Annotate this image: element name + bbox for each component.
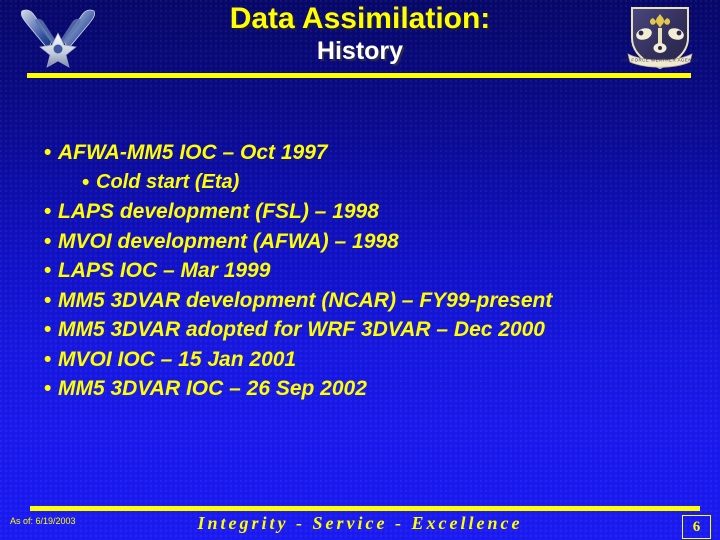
bullet-icon: • <box>44 227 51 257</box>
list-item-label: MM5 3DVAR adopted for WRF 3DVAR – Dec 20… <box>58 318 545 341</box>
bullet-icon: • <box>44 345 51 375</box>
list-item-label: MVOI development (AFWA) – 1998 <box>58 230 399 253</box>
page-number: 6 <box>682 515 711 539</box>
list-item-label: LAPS development (FSL) – 1998 <box>58 200 379 223</box>
bullet-icon: • <box>44 138 51 168</box>
list-item-label: MVOI IOC – 15 Jan 2001 <box>58 348 296 371</box>
list-item: • MVOI IOC – 15 Jan 2001 <box>0 345 720 375</box>
list-item: • LAPS IOC – Mar 1999 <box>0 256 720 286</box>
list-item-label: LAPS IOC – Mar 1999 <box>58 259 270 282</box>
air-force-weather-agency-shield-icon: AIR FORCE WEATHER AGENCY <box>620 4 700 74</box>
footer-motto: Integrity - Service - Excellence <box>0 513 720 534</box>
list-item-label: AFWA-MM5 IOC – Oct 1997 <box>58 141 328 164</box>
bullet-icon: • <box>82 168 89 198</box>
bullet-icon: • <box>44 286 51 316</box>
bullet-icon: • <box>44 374 51 404</box>
bullet-icon: • <box>44 315 51 345</box>
list-item: • MM5 3DVAR adopted for WRF 3DVAR – Dec … <box>0 315 720 345</box>
list-item: • MVOI development (AFWA) – 1998 <box>0 227 720 257</box>
list-item: • MM5 3DVAR IOC – 26 Sep 2002 <box>0 374 720 404</box>
page-title: Data Assimilation: <box>110 2 610 36</box>
page-subtitle: History <box>110 36 610 66</box>
bullet-icon: • <box>44 256 51 286</box>
slide-header: AIR FORCE WEATHER AGENCY Data Assimilati… <box>0 0 720 86</box>
bullet-icon: • <box>44 197 51 227</box>
list-item: • AFWA-MM5 IOC – Oct 1997 <box>0 138 720 168</box>
list-item: • MM5 3DVAR development (NCAR) – FY99-pr… <box>0 286 720 316</box>
title-block: Data Assimilation: History <box>110 2 610 66</box>
us-air-force-symbol-icon <box>14 5 102 73</box>
list-item: • LAPS development (FSL) – 1998 <box>0 197 720 227</box>
header-divider <box>27 73 691 78</box>
shield-scroll-text: AIR FORCE WEATHER AGENCY <box>621 58 699 63</box>
list-item-label: MM5 3DVAR IOC – 26 Sep 2002 <box>58 377 367 400</box>
footer-divider <box>30 506 700 511</box>
list-item-label: Cold start (Eta) <box>96 171 239 193</box>
list-item-label: MM5 3DVAR development (NCAR) – FY99-pres… <box>58 289 552 312</box>
bullet-list: • AFWA-MM5 IOC – Oct 1997 • Cold start (… <box>0 138 720 404</box>
slide: AIR FORCE WEATHER AGENCY Data Assimilati… <box>0 0 720 540</box>
list-item: • Cold start (Eta) <box>0 168 720 198</box>
